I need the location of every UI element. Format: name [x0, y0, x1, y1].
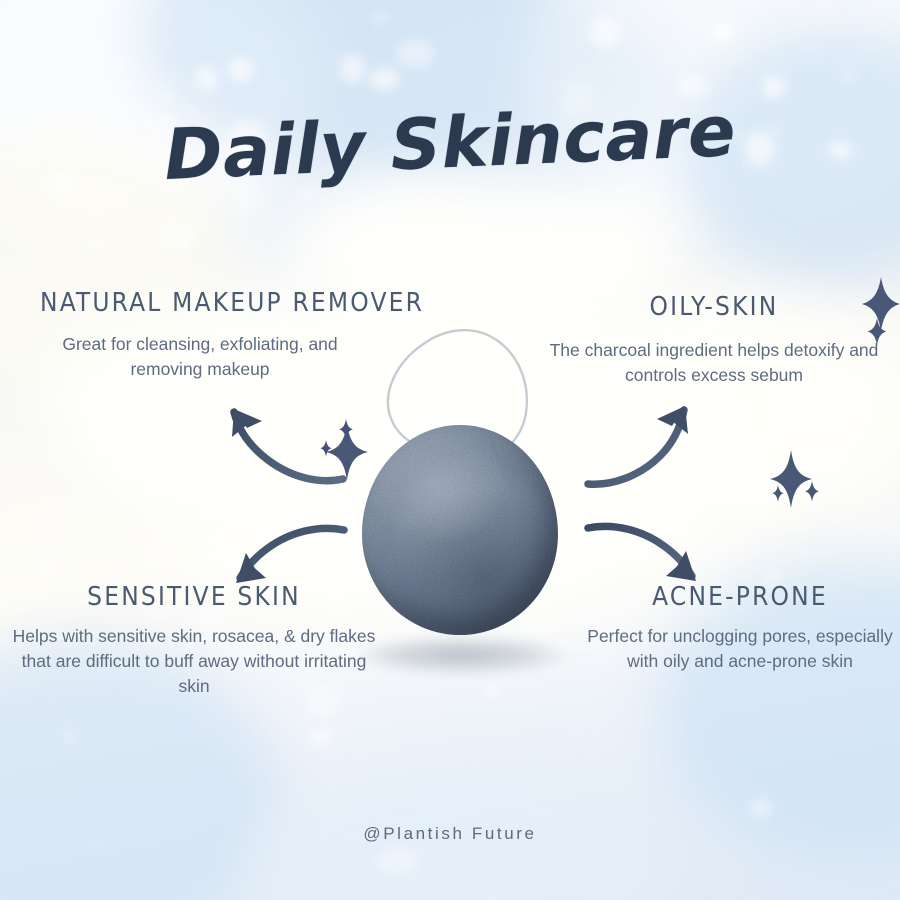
- feature-oily-skin: OILY-SKIN The charcoal ingredient helps …: [540, 292, 888, 388]
- product-image-konjac-sponge: [330, 315, 580, 655]
- feature-acne-prone: ACNE-PRONE Perfect for unclogging pores,…: [580, 582, 900, 674]
- feature-body: Perfect for unclogging pores, especially…: [580, 624, 900, 674]
- feature-heading: OILY-SKIN: [540, 292, 888, 322]
- feature-heading: ACNE-PRONE: [580, 582, 900, 612]
- brand-handle: @Plantish Future: [0, 824, 900, 844]
- poster-canvas: Daily Skincare NATURAL MAKEUP REMOVER Gr…: [0, 0, 900, 900]
- feature-heading: NATURAL MAKEUP REMOVER: [40, 288, 400, 318]
- feature-heading: SENSITIVE SKIN: [10, 582, 378, 612]
- feature-body: The charcoal ingredient helps detoxify a…: [540, 338, 888, 388]
- feature-body: Helps with sensitive skin, rosacea, & dr…: [10, 624, 378, 699]
- feature-sensitive-skin: SENSITIVE SKIN Helps with sensitive skin…: [10, 582, 378, 699]
- sponge-drop-shadow: [358, 637, 566, 673]
- sponge-body: [362, 425, 558, 635]
- sponge-texture: [362, 425, 558, 635]
